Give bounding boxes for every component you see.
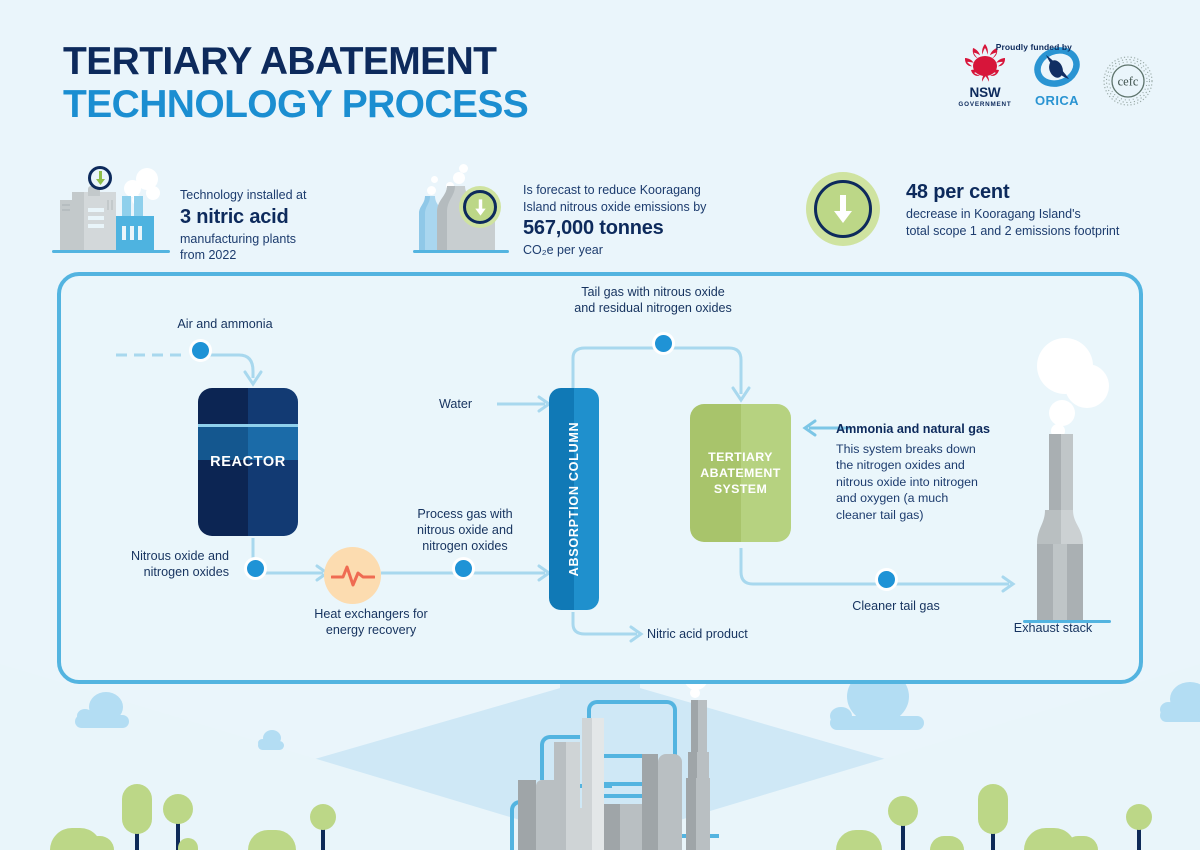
label-line-2: nitrogen oxides — [144, 565, 229, 579]
process-diagram-panel: Air and ammonia Nitrous oxide and nitrog… — [57, 272, 1143, 684]
tree-icon — [968, 784, 1018, 850]
label-air-and-ammonia: Air and ammonia — [119, 316, 331, 332]
note-body: This system breaks down the nitrogen oxi… — [836, 441, 1008, 523]
unit-absorption-column[interactable]: ABSORPTION COLUMN — [549, 388, 599, 610]
label-line-3: nitrogen oxides — [422, 539, 507, 553]
stat-card-emissions: Is forecast to reduce Kooragang Island n… — [413, 164, 706, 259]
page-title: TERTIARY ABATEMENT TECHNOLOGY PROCESS — [63, 42, 528, 124]
stat3-post-1: decrease in Kooragang Island's — [906, 207, 1081, 221]
note-line-1: This system breaks down — [836, 442, 976, 456]
label-tail-gas: Tail gas with nitrous oxide and residual… — [537, 284, 769, 316]
node-process-gas[interactable] — [452, 557, 475, 580]
down-arrow-circle-icon — [806, 172, 880, 246]
label-line-1: Process gas with — [417, 507, 512, 521]
orica-logo-text: ORICA — [1035, 93, 1079, 108]
label-line-2: nitrous oxide and — [417, 523, 513, 537]
node-reactor-outlet[interactable] — [244, 557, 267, 580]
pulse-icon — [331, 563, 375, 589]
cefc-logo: cefc — [1101, 54, 1155, 108]
label-line-2: energy recovery — [326, 623, 416, 637]
node-tail-gas[interactable] — [652, 332, 675, 355]
note-line-5: cleaner tail gas) — [836, 508, 923, 522]
label-nitrous-nitrogen-oxides: Nitrous oxide and nitrogen oxides — [61, 548, 229, 580]
cooling-tower-icon — [413, 164, 509, 256]
orica-logo: ORICA — [1031, 46, 1083, 108]
stat1-post-2: from 2022 — [180, 248, 236, 262]
title-line-2: TECHNOLOGY PROCESS — [63, 85, 528, 124]
stats-row: Technology installed at 3 nitric acid ma… — [0, 150, 1200, 260]
label-line-1: Heat exchangers for — [314, 607, 427, 621]
connector-nitric-acid — [573, 612, 637, 634]
label-line-2: ABATEMENT — [700, 466, 780, 480]
stat-card-decrease: 48 per cent decrease in Kooragang Island… — [806, 172, 1119, 246]
cloud-icon — [1160, 709, 1200, 722]
label-line-3: SYSTEM — [714, 482, 767, 496]
factory-icon — [52, 164, 170, 256]
exhaust-stack-illustration — [1007, 338, 1123, 628]
funded-by-label: Proudly funded by — [996, 42, 1072, 52]
title-line-1: TERTIARY ABATEMENT — [63, 40, 496, 83]
reactor-label: REACTOR — [210, 454, 286, 470]
orica-mark-icon — [1031, 46, 1083, 92]
note-line-2: the nitrogen oxides and — [836, 458, 965, 472]
industrial-plant-illustration — [500, 675, 730, 850]
label-heat-exchangers: Heat exchangers for energy recovery — [279, 606, 463, 638]
down-arrow-icon — [830, 194, 856, 224]
stat1-post-1: manufacturing plants — [180, 232, 296, 246]
stat3-post-2: total scope 1 and 2 emissions footprint — [906, 224, 1119, 238]
stat-card-plants: Technology installed at 3 nitric acid ma… — [52, 164, 306, 264]
stat2-value: 567,000 tonnes — [523, 216, 706, 241]
note-line-3: nitrous oxide into nitrogen — [836, 475, 978, 489]
label-line-1: Tail gas with nitrous oxide — [581, 285, 725, 299]
label-line-1: Nitrous oxide and — [131, 549, 229, 563]
note-ammonia-natural-gas: Ammonia and natural gas This system brea… — [836, 422, 1008, 523]
unit-reactor[interactable]: REACTOR — [198, 388, 298, 536]
tree-icon — [1116, 804, 1162, 850]
label-process-gas: Process gas with nitrous oxide and nitro… — [395, 506, 535, 554]
unit-heat-exchanger[interactable] — [324, 547, 381, 604]
stat2-post-1: CO₂e per year — [523, 243, 603, 257]
stat2-pre-2: Island nitrous oxide emissions by — [523, 200, 706, 214]
label-line-1: TERTIARY — [708, 450, 773, 464]
stat3-value: 48 per cent — [906, 180, 1119, 205]
cloud-icon — [830, 716, 924, 730]
stat2-pre-1: Is forecast to reduce Kooragang — [523, 183, 701, 197]
stat1-pre: Technology installed at — [180, 188, 306, 202]
nsw-logo-line-1: NSW — [970, 86, 1001, 100]
tertiary-abatement-label: TERTIARY ABATEMENT SYSTEM — [700, 449, 780, 497]
cloud-icon — [258, 741, 284, 750]
cloud-icon — [75, 715, 129, 728]
cefc-mark-icon: cefc — [1101, 54, 1155, 108]
note-line-4: and oxygen (a much — [836, 491, 948, 505]
label-nitric-acid-product: Nitric acid product — [647, 626, 827, 642]
tree-icon — [880, 796, 926, 850]
nsw-logo-line-2: GOVERNMENT — [958, 101, 1011, 108]
absorption-column-label: ABSORPTION COLUMN — [567, 422, 581, 577]
label-line-2: and residual nitrogen oxides — [574, 301, 732, 315]
note-heading: Ammonia and natural gas — [836, 422, 1008, 436]
stat1-value: 3 nitric acid — [180, 205, 306, 230]
down-arrow-icon — [473, 199, 488, 216]
label-cleaner-tail-gas: Cleaner tail gas — [829, 598, 963, 614]
infographic-page: TERTIARY ABATEMENT TECHNOLOGY PROCESS Pr… — [0, 0, 1200, 850]
unit-tertiary-abatement-system[interactable]: TERTIARY ABATEMENT SYSTEM — [690, 404, 791, 542]
down-arrow-icon — [94, 171, 107, 185]
label-water: Water — [439, 396, 499, 412]
cefc-logo-text: cefc — [1118, 75, 1139, 89]
node-cleaner-tail-gas[interactable] — [875, 568, 898, 591]
node-air-ammonia[interactable] — [189, 339, 212, 362]
tree-icon — [300, 806, 346, 850]
